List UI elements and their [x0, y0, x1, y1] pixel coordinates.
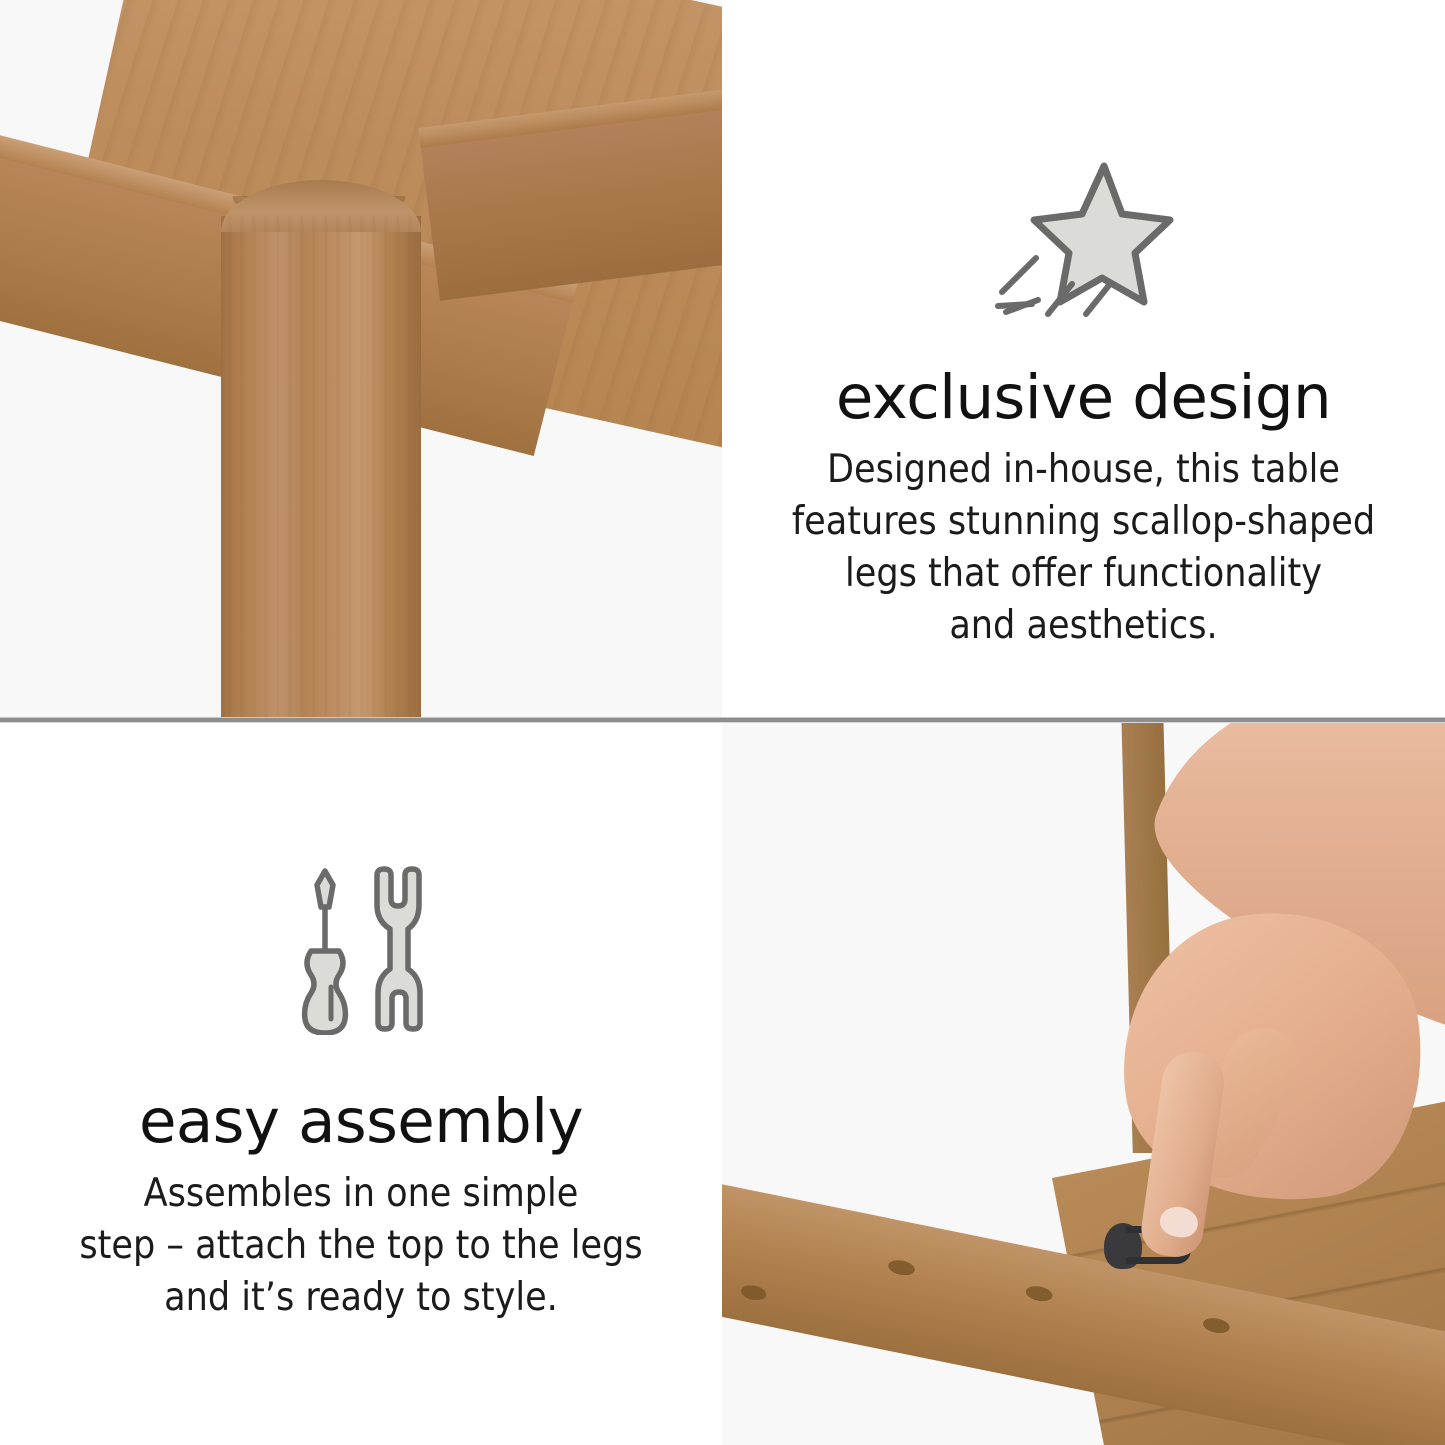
exclusive-design-panel: exclusive design Designed in-house, this… — [722, 0, 1445, 717]
body-line: step – attach the top to the legs — [79, 1220, 642, 1272]
body-line: Assembles in one simple — [79, 1168, 642, 1220]
table-corner-photo: Close-up of a wooden table corner showin… — [0, 0, 722, 717]
exclusive-design-body: Designed in-house, this table features s… — [792, 444, 1375, 652]
easy-assembly-panel: easy assembly Assembles in one simple st… — [0, 723, 722, 1445]
table-corner-illustration — [0, 0, 722, 717]
body-line: and aesthetics. — [792, 600, 1375, 652]
body-line: and it’s ready to style. — [79, 1272, 642, 1324]
assembly-table-leg — [997, 723, 1137, 1163]
easy-assembly-heading: easy assembly — [139, 1090, 583, 1154]
body-line: legs that offer functionality — [792, 548, 1375, 600]
assembly-photo: A hand tightening a cam-lock fastener wi… — [722, 723, 1445, 1445]
product-feature-infographic: Close-up of a wooden table corner showin… — [0, 0, 1445, 1445]
body-line: features stunning scallop-shaped — [792, 496, 1375, 548]
exclusive-design-heading: exclusive design — [836, 366, 1331, 430]
easy-assembly-body: Assembles in one simple step – attach th… — [79, 1168, 642, 1324]
table-leg-grain — [221, 216, 421, 717]
screwdriver-and-wrench-icon — [285, 863, 437, 1035]
assembly-illustration — [722, 723, 1445, 1445]
shooting-star-icon — [994, 152, 1174, 322]
body-line: Designed in-house, this table — [792, 444, 1375, 496]
